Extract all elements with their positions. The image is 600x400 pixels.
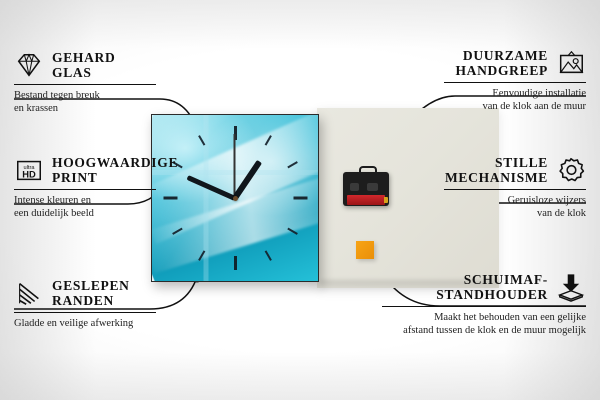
callout-gehard-glas: GEHARD GLAS Bestand tegen breuk en krass… xyxy=(14,50,156,115)
callout-desc-line1: Intense kleuren en xyxy=(14,195,156,208)
callout-title-line2: RANDEN xyxy=(52,293,130,308)
callout-title-line1: SCHUIMAF- xyxy=(382,272,548,287)
callout-title-line1: GESLEPEN xyxy=(52,278,130,293)
mechanism-body xyxy=(343,172,389,206)
gear-icon xyxy=(556,155,586,185)
callout-title-line1: HOOGWAARDIGE xyxy=(52,155,178,170)
arrow-down-onto-pad-icon xyxy=(556,272,586,302)
callout-title-line2: HANDGREEP xyxy=(455,63,548,78)
diagonal-lines-icon xyxy=(14,278,44,308)
foam-spacer-pad xyxy=(356,241,374,259)
mechanism-knob xyxy=(367,183,378,191)
battery xyxy=(347,195,385,205)
callout-desc-line2: van de klok aan de muur xyxy=(444,101,586,114)
callout-title-line2: GLAS xyxy=(52,65,115,80)
callout-geslepen-randen: GESLEPEN RANDEN Gladde en veilige afwerk… xyxy=(14,278,156,331)
callout-desc-line1: Geruisloze wijzers xyxy=(444,195,586,208)
clock-center-pin xyxy=(233,196,238,201)
callout-duurzame-handgreep: DUURZAME HANDGREEP Eenvoudige installati… xyxy=(444,48,586,113)
callout-rule xyxy=(444,82,586,83)
callout-desc-line2: een duidelijk beeld xyxy=(14,208,156,221)
callout-desc-line2: van de klok xyxy=(444,208,586,221)
diamond-icon xyxy=(14,50,44,80)
callout-rule xyxy=(444,189,586,190)
callout-desc-line1: Eenvoudige installatie xyxy=(444,88,586,101)
callout-title-line2: PRINT xyxy=(52,170,178,185)
callout-title-line2: STANDHOUDER xyxy=(382,287,548,302)
callout-schuimafstandhouder: SCHUIMAF- STANDHOUDER Maakt het behouden… xyxy=(382,272,586,337)
callout-rule xyxy=(14,84,156,85)
callout-title-line1: DUURZAME xyxy=(455,48,548,63)
mechanism-knob xyxy=(350,183,359,191)
callout-desc-line1: Bestand tegen breuk xyxy=(14,90,156,103)
callout-desc-line2: en krassen xyxy=(14,103,156,116)
callout-stille-mechanisme: STILLE MECHANISME Geruisloze wijzers van… xyxy=(444,155,586,220)
callout-title-line1: STILLE xyxy=(445,155,548,170)
callout-desc-line1: Gladde en veilige afwerking xyxy=(14,318,156,331)
product-photo xyxy=(142,100,360,290)
callout-hoogwaardige-print: ultra HD HOOGWAARDIGE PRINT Intense kleu… xyxy=(14,155,156,220)
picture-frame-icon xyxy=(556,48,586,78)
callout-desc-line2: afstand tussen de klok en de muur mogeli… xyxy=(382,325,586,338)
glass-wall-clock xyxy=(151,114,319,282)
callout-rule xyxy=(14,189,156,190)
clock-mechanism xyxy=(343,166,389,206)
callout-title-line2: MECHANISME xyxy=(445,170,548,185)
callout-title-line1: GEHARD xyxy=(52,50,115,65)
callout-rule xyxy=(382,306,586,307)
callout-rule xyxy=(14,312,156,313)
product-feature-infographic: GEHARD GLAS Bestand tegen breuk en krass… xyxy=(0,0,600,400)
callout-desc-line1: Maakt het behouden van een gelijke xyxy=(382,312,586,325)
svg-text:HD: HD xyxy=(22,170,36,180)
ultra-hd-icon: ultra HD xyxy=(14,155,44,185)
